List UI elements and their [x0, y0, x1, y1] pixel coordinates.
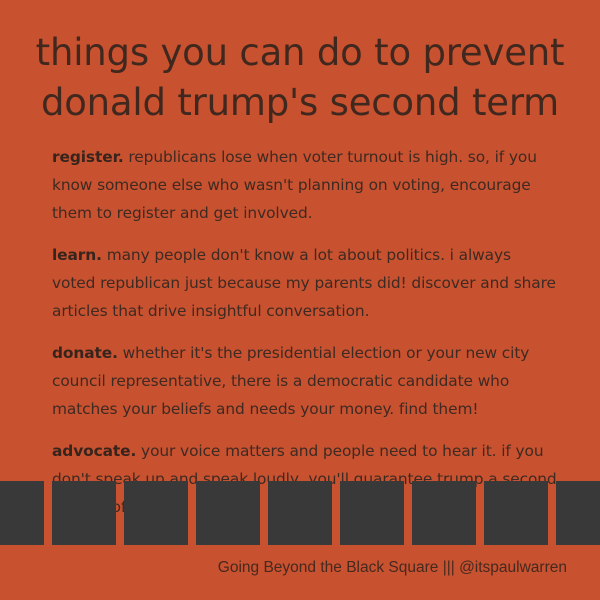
- black-square: [268, 481, 332, 545]
- black-square: [52, 481, 116, 545]
- black-square: [124, 481, 188, 545]
- paragraph-lead-donate: donate.: [52, 344, 118, 362]
- page-title: things you can do to prevent donald trum…: [0, 28, 600, 128]
- paragraph-text-donate: whether it's the presidential election o…: [52, 344, 529, 418]
- title-line-1: things you can do to prevent: [0, 28, 600, 78]
- infographic-canvas: things you can do to prevent donald trum…: [0, 0, 600, 600]
- body-content: register. republicans lose when voter tu…: [52, 143, 558, 521]
- paragraph-text-learn: many people don't know a lot about polit…: [52, 246, 556, 320]
- black-square: [0, 481, 44, 545]
- paragraph-lead-register: register.: [52, 148, 124, 166]
- black-square: [340, 481, 404, 545]
- footer-attribution: Going Beyond the Black Square ||| @itspa…: [218, 557, 567, 578]
- black-square: [412, 481, 476, 545]
- black-square: [556, 481, 600, 545]
- black-square: [196, 481, 260, 545]
- footer-text: Going Beyond the Black Square ||| @itspa…: [218, 559, 567, 576]
- paragraph-learn: learn. many people don't know a lot abou…: [52, 241, 558, 325]
- black-square: [484, 481, 548, 545]
- black-square-strip: [0, 481, 600, 545]
- paragraph-lead-advocate: advocate.: [52, 442, 136, 460]
- title-line-2: donald trump's second term: [0, 78, 600, 128]
- paragraph-register: register. republicans lose when voter tu…: [52, 143, 558, 227]
- paragraph-donate: donate. whether it's the presidential el…: [52, 339, 558, 423]
- paragraph-text-register: republicans lose when voter turnout is h…: [52, 148, 537, 222]
- paragraph-lead-learn: learn.: [52, 246, 102, 264]
